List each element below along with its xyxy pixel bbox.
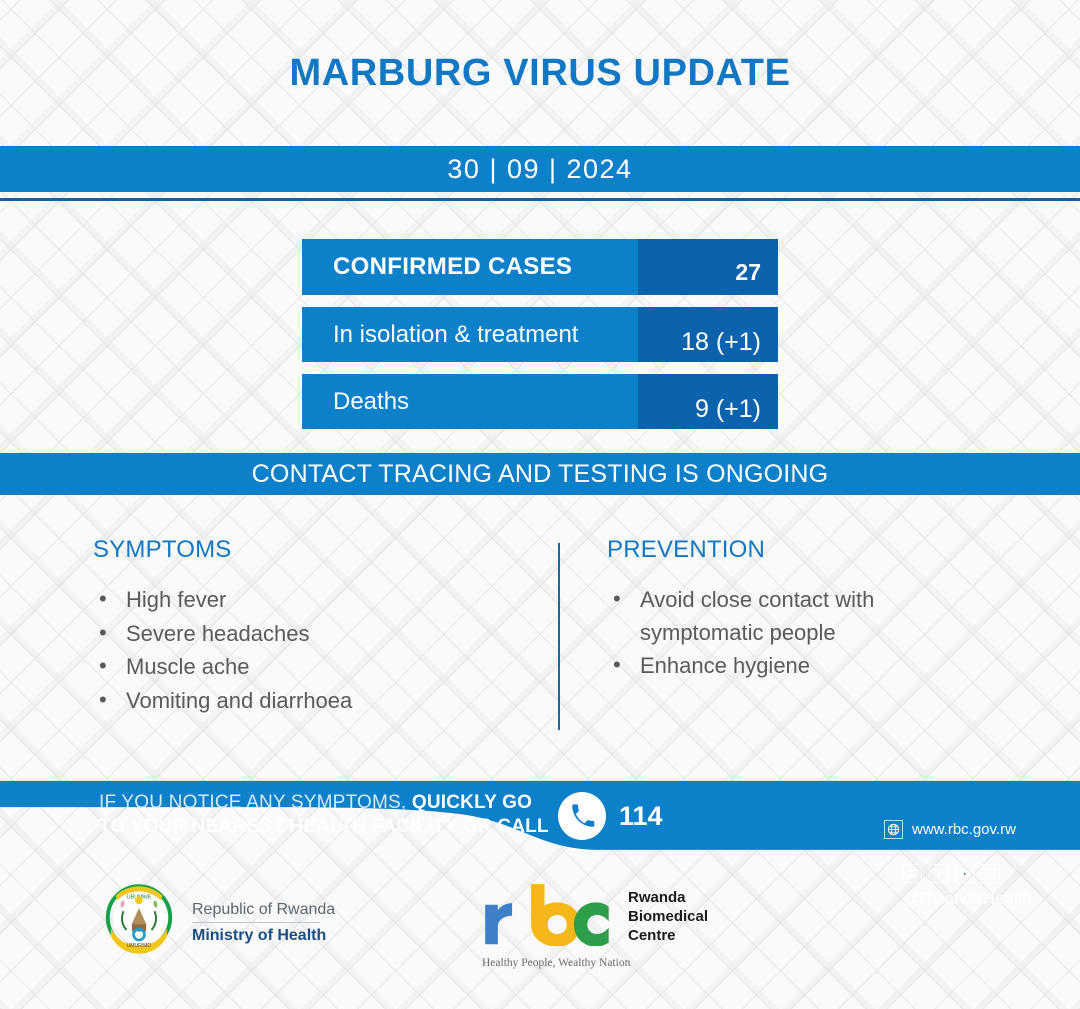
svg-text:UMURIMO: UMURIMO [127,943,152,949]
moh-line-2: Ministry of Health [192,927,335,945]
list-item: High fever [93,584,523,617]
ministry-of-health-logo: UBUMWE UMURIMO Republic of Rwanda Minist… [100,880,335,963]
rbc-name: Rwanda Biomedical Centre [628,884,708,945]
cta-line-1-light: IF YOU NOTICE ANY SYMPTOMS, [99,792,406,813]
symptoms-list: High fever Severe headaches Muscle ache … [93,584,523,717]
rbc-logo: Rwanda Biomedical Centre Healthy People,… [482,884,708,969]
stat-label: Deaths [302,374,638,429]
website-row[interactable]: www.rbc.gov.rw [884,820,1016,839]
date-text: 30 | 09 | 2024 [447,154,632,185]
social-icons-row[interactable] [903,864,1000,883]
stat-label: CONFIRMED CASES [302,239,638,295]
table-row: CONFIRMED CASES 27 [302,239,778,295]
prevention-column: PREVENTION Avoid close contact with symp… [607,536,987,684]
cta-text-block: IF YOU NOTICE ANY SYMPTOMS, QUICKLY GO T… [99,791,549,839]
stat-value: 27 [638,239,778,295]
symptoms-column: SYMPTOMS High fever Severe headaches Mus… [93,536,523,718]
prevention-heading: PREVENTION [607,536,987,564]
tracing-banner-text: CONTACT TRACING AND TESTING IS ONGOING [252,460,829,489]
rbc-name-line-1: Rwanda [628,888,708,907]
list-item: Enhance hygiene [607,650,987,683]
phone-number: 114 [619,801,663,832]
date-band: 30 | 09 | 2024 [0,146,1080,192]
tracing-banner: CONTACT TRACING AND TESTING IS ONGOING [0,453,1080,495]
facebook-icon[interactable] [929,864,948,883]
instagram-icon[interactable] [981,864,1000,883]
stats-table: CONFIRMED CASES 27 In isolation & treatm… [302,239,778,429]
cta-line-1: IF YOU NOTICE ANY SYMPTOMS, QUICKLY GO [99,791,549,815]
moh-rule [192,922,320,923]
phone-badge: 114 [558,792,663,840]
list-item: Severe headaches [93,618,523,651]
moh-line-1: Republic of Rwanda [192,901,335,919]
cta-line-1-bold: QUICKLY GO [412,792,532,813]
page-title: MARBURG VIRUS UPDATE [0,52,1080,95]
list-item: Vomiting and diarrhoea [93,685,523,718]
rwanda-coat-of-arms-icon: UBUMWE UMURIMO [100,880,178,963]
date-separator-rule [0,198,1080,201]
table-row: Deaths 9 (+1) [302,374,778,429]
website-url[interactable]: www.rbc.gov.rw [912,821,1016,838]
x-twitter-icon[interactable] [903,864,922,883]
cta-line-2: TO YOUR NEAREST HEALTH FACILITY OR CALL [99,815,549,839]
rbc-name-line-2: Biomedical [628,907,708,926]
stat-value: 18 (+1) [638,307,778,362]
rbc-name-line-3: Centre [628,926,708,945]
column-divider [558,543,560,730]
youtube-icon[interactable] [955,864,974,883]
phone-icon [558,792,606,840]
stat-label: In isolation & treatment [302,307,638,362]
symptoms-heading: SYMPTOMS [93,536,523,564]
rbc-top: Rwanda Biomedical Centre [482,884,708,951]
rbc-logo-icon [482,884,615,951]
stat-value: 9 (+1) [638,374,778,429]
table-row: In isolation & treatment 18 (+1) [302,307,778,362]
globe-icon [884,820,903,839]
moh-text: Republic of Rwanda Ministry of Health [192,899,335,945]
list-item: Avoid close contact with symptomatic peo… [607,584,987,649]
rbc-tagline: Healthy People, Wealthy Nation [482,957,708,969]
list-item: Muscle ache [93,651,523,684]
info-columns: SYMPTOMS High fever Severe headaches Mus… [0,536,1080,746]
prevention-list: Avoid close contact with symptomatic peo… [607,584,987,683]
social-handle: @RwandaHealth [903,889,1032,909]
